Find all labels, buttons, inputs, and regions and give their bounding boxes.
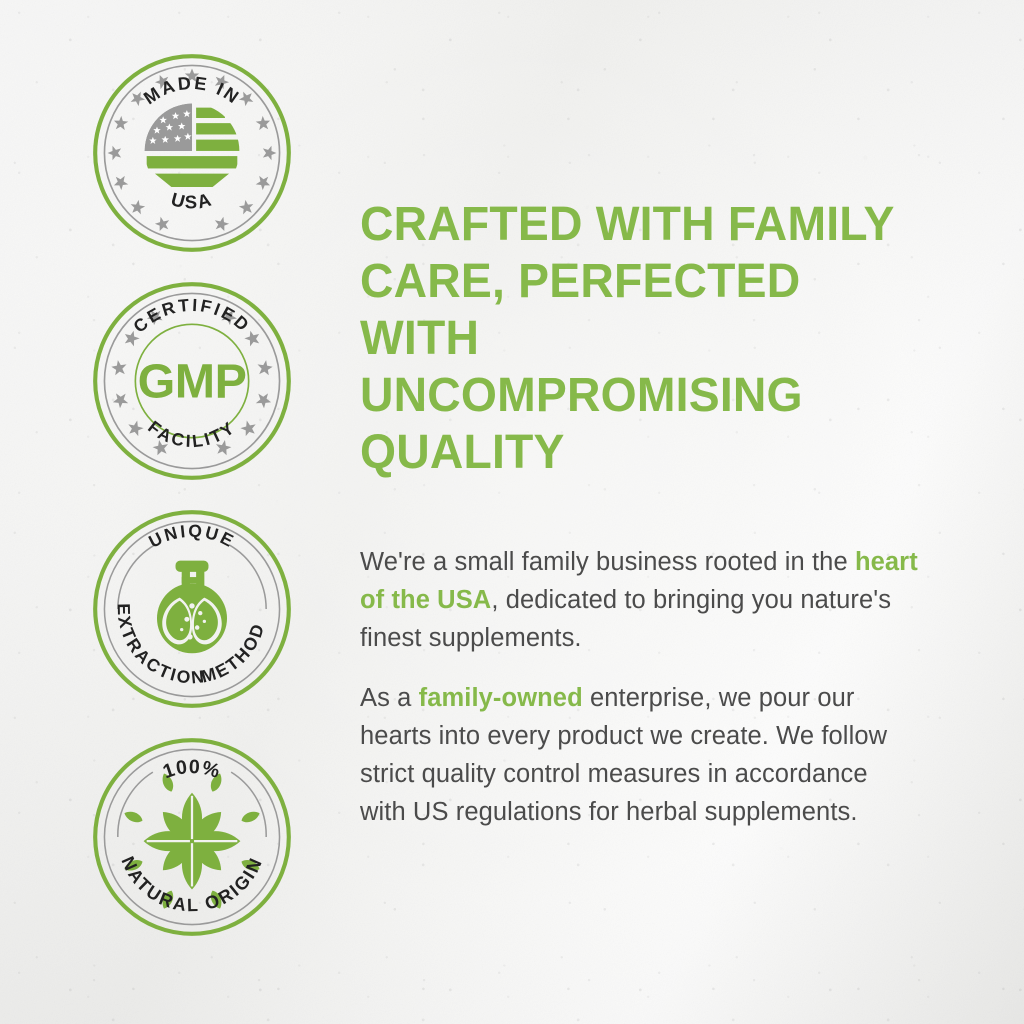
headline-line-4: QUALITY	[360, 426, 565, 479]
paragraph-1-before: We're a small family business rooted in …	[360, 548, 855, 576]
badge-usa-top-label: MADE IN	[139, 73, 243, 109]
badge-extraction-top-label: UNIQUE	[145, 521, 238, 552]
body-paragraph-2: As a family-owned enterprise, we pour ou…	[360, 679, 920, 831]
paragraph-2-highlight: family-owned	[419, 684, 583, 712]
headline-line-2: CARE, PERFECTED WITH	[360, 255, 800, 365]
paragraph-2-before: As a	[360, 684, 419, 712]
headline-line-1: CRAFTED WITH FAMILY	[360, 198, 895, 251]
badge-usa-bottom-label: USA	[168, 188, 214, 212]
badge-natural-top-label: 100%	[160, 756, 223, 783]
badge-gmp-certified-facility: GMP CERTIFIED FACILITY	[89, 278, 295, 484]
body-paragraph-1: We're a small family business rooted in …	[360, 543, 920, 657]
trust-badge-column: MADE IN USA	[74, 50, 309, 940]
badge-natural-origin: 100% NATURAL ORIGIN	[89, 734, 295, 940]
badge-unique-extraction-method: UNIQUE EXTRACTION METHOD	[89, 506, 295, 712]
badge-gmp-top-label: CERTIFIED	[129, 295, 254, 337]
page-headline: CRAFTED WITH FAMILY CARE, PERFECTED WITH…	[360, 196, 900, 481]
badge-gmp-center-label: GMP	[137, 354, 246, 408]
badge-made-in-usa: MADE IN USA	[89, 50, 295, 256]
usa-flag-circle-icon	[144, 104, 243, 187]
headline-line-3: UNCOMPROMISING	[360, 369, 803, 422]
content-column: CRAFTED WITH FAMILY CARE, PERFECTED WITH…	[360, 196, 920, 831]
